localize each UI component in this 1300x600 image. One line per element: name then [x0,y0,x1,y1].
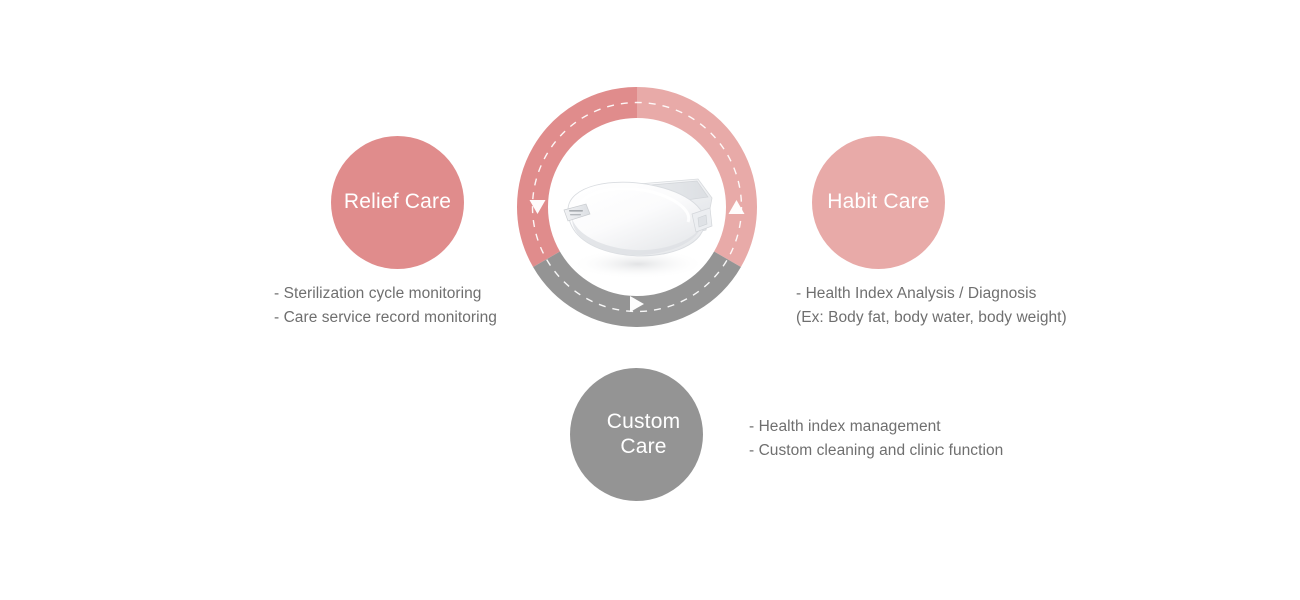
diagram-canvas: Relief Care - Sterilization cycle monito… [0,0,1300,600]
ring-segment-relief [532,103,637,260]
node-custom-care-label: Custom Care [593,410,681,460]
node-custom-care-description: - Health index management - Custom clean… [749,415,1003,462]
node-habit-care[interactable]: Habit Care [812,136,945,269]
node-habit-care-label: Habit Care [827,190,929,215]
node-custom-care[interactable]: Custom Care [570,368,703,501]
node-relief-care-label: Relief Care [344,190,451,215]
node-relief-care-description: - Sterilization cycle monitoring - Care … [274,282,497,329]
node-habit-care-description: - Health Index Analysis / Diagnosis (Ex:… [796,282,1067,329]
cycle-ring [517,87,757,327]
ring-segment-habit [637,103,742,260]
node-relief-care[interactable]: Relief Care [331,136,464,269]
